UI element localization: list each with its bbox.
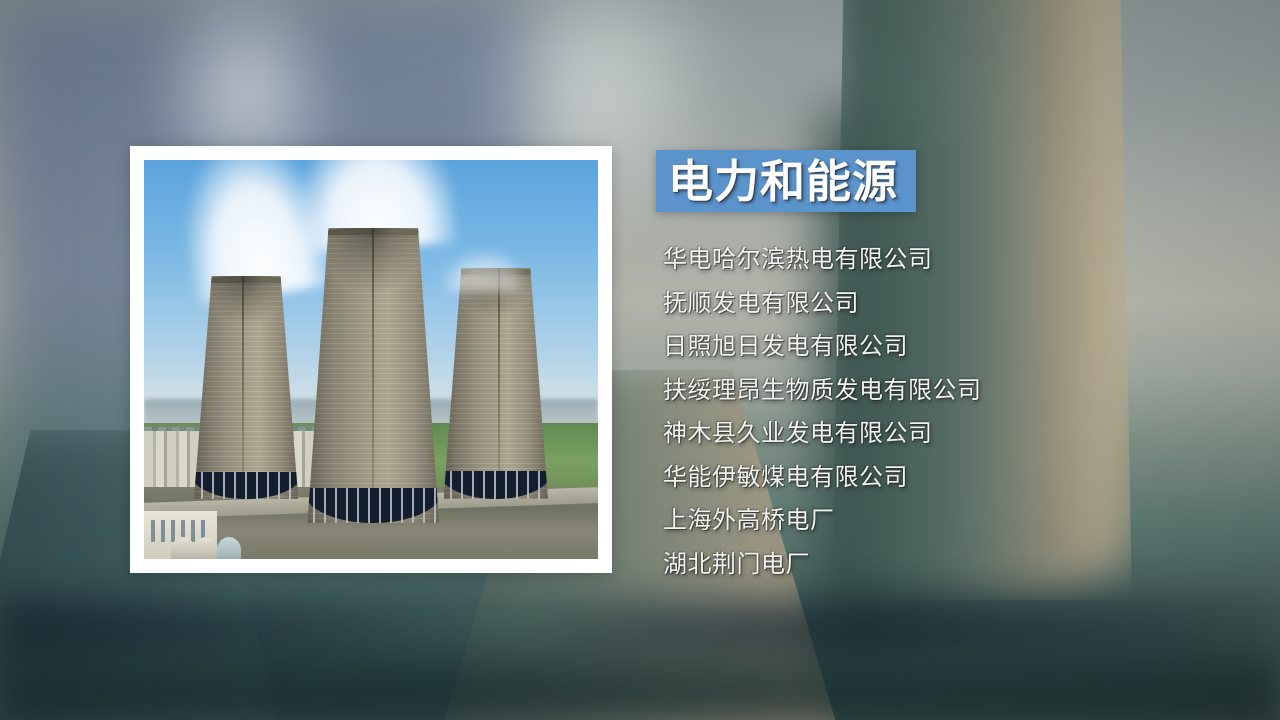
page-title: 电力和能源 (656, 159, 898, 204)
list-item: 抚顺发电有限公司 (663, 282, 1083, 326)
power-plant-photo (144, 160, 598, 559)
photo-frame (130, 146, 612, 573)
photo-cooling-tower-left (194, 276, 298, 499)
photo-storage-tank (217, 537, 241, 559)
list-item: 湖北荆门电厂 (663, 543, 1083, 587)
tower-soot (206, 276, 285, 325)
list-item: 华能伊敏煤电有限公司 (663, 456, 1083, 500)
slide-root: 电力和能源 华电哈尔滨热电有限公司 抚顺发电有限公司 日照旭日发电有限公司 扶绥… (0, 0, 1280, 720)
photo-cooling-tower-right (444, 268, 548, 499)
list-item: 扶绥理昂生物质发电有限公司 (663, 369, 1083, 413)
tower-base-columns (439, 471, 552, 499)
tower-seam (372, 228, 374, 523)
photo-storage-tank (194, 537, 218, 559)
tower-base-columns (190, 472, 303, 499)
title-banner: 电力和能源 (656, 150, 916, 212)
photo-cooling-tower-center (307, 228, 439, 523)
list-item: 上海外高桥电厂 (663, 499, 1083, 543)
photo-steam-plume-c (444, 252, 526, 292)
tower-seam (242, 276, 244, 499)
list-item: 神木县久业发电有限公司 (663, 412, 1083, 456)
tower-base-columns (302, 488, 444, 523)
list-item: 华电哈尔滨热电有限公司 (663, 238, 1083, 282)
tower-seam (498, 268, 500, 499)
company-list: 华电哈尔滨热电有限公司 抚顺发电有限公司 日照旭日发电有限公司 扶绥理昂生物质发… (663, 238, 1083, 586)
list-item: 日照旭日发电有限公司 (663, 325, 1083, 369)
photo-storage-tank (171, 537, 195, 559)
